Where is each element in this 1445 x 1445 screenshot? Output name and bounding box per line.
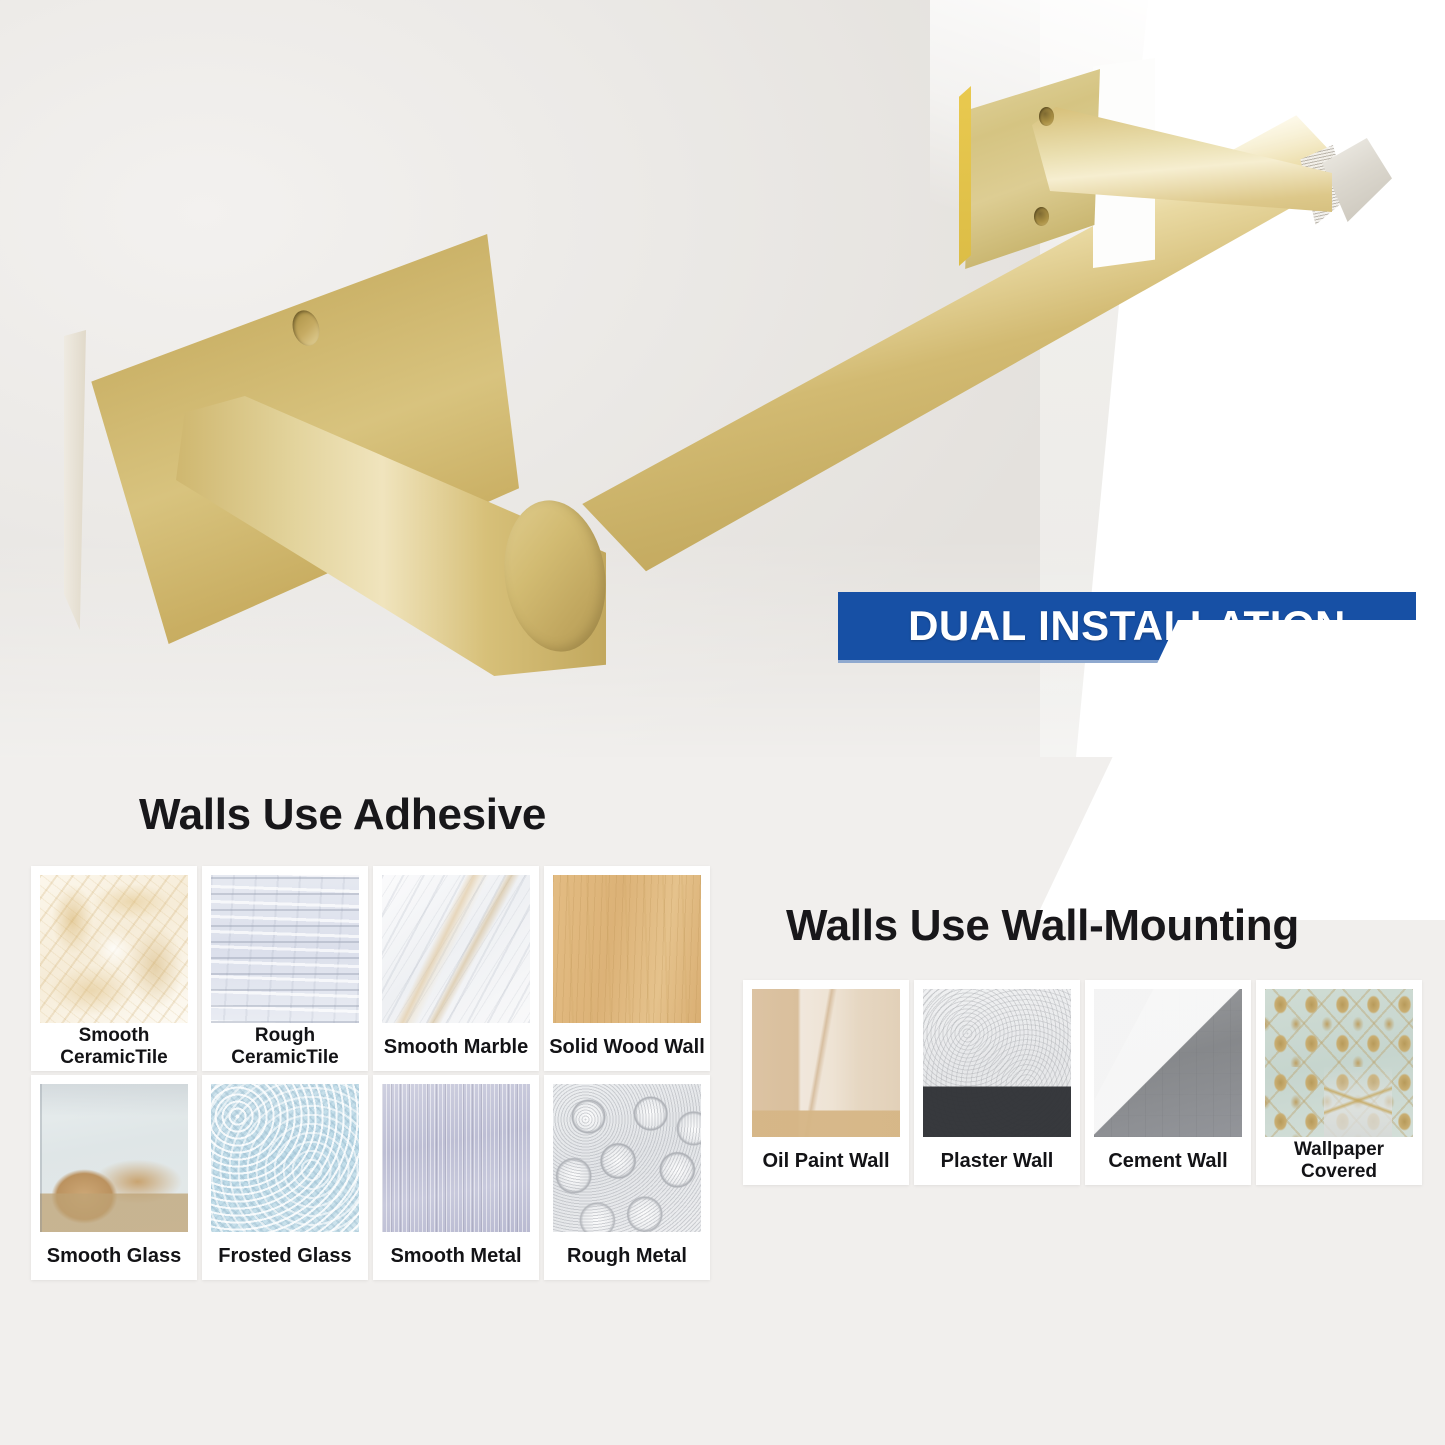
surface-thumbnail-cement-wall [1094,989,1242,1137]
wallpaper-branch-overlay [1324,1066,1392,1137]
surface-thumbnail-frosted-glass [211,1084,359,1232]
right-plate-screw-hole-bottom [1034,207,1049,226]
surface-label-smooth-marble: Smooth Marble [382,1023,530,1071]
surface-label-smooth-metal: Smooth Metal [388,1232,523,1280]
surface-label-oil-paint-wall: Oil Paint Wall [760,1137,891,1185]
surface-card-smooth-metal: Smooth Metal [373,1075,539,1280]
surface-card-rough-metal: Rough Metal [544,1075,710,1280]
surface-card-oil-paint-wall: Oil Paint Wall [743,980,909,1185]
surface-thumbnail-solid-wood-wall [553,875,701,1023]
surface-card-smooth-marble: Smooth Marble [373,866,539,1071]
surface-thumbnail-smooth-marble [382,875,530,1023]
surface-card-plaster-wall: Plaster Wall [914,980,1080,1185]
surface-thumbnail-rough-ceramic-tile [211,875,359,1023]
surface-thumbnail-smooth-ceramic-tile [40,875,188,1023]
surface-card-wallpaper-covered: WallpaperCovered [1256,980,1422,1185]
surface-thumbnail-rough-metal [553,1084,701,1232]
surface-card-smooth-glass: Smooth Glass [31,1075,197,1280]
surface-thumbnail-plaster-wall [923,989,1071,1137]
surface-card-solid-wood-wall: Solid Wood Wall [544,866,710,1071]
surface-thumbnail-oil-paint-wall [752,989,900,1137]
product-infographic: DUAL INSTALLATION Walls Use Adhesive Wal… [0,0,1445,1445]
surface-label-frosted-glass: Frosted Glass [216,1232,353,1280]
surface-card-cement-wall: Cement Wall [1085,980,1251,1185]
surface-label-wallpaper-covered: WallpaperCovered [1292,1137,1386,1185]
surface-thumbnail-smooth-metal [382,1084,530,1232]
surface-card-rough-ceramic-tile: RoughCeramicTile [202,866,368,1071]
surface-label-smooth-ceramic-tile: SmoothCeramicTile [58,1023,169,1071]
surface-card-frosted-glass: Frosted Glass [202,1075,368,1280]
surface-label-rough-metal: Rough Metal [565,1232,689,1280]
surface-thumbnail-wallpaper-covered [1265,989,1413,1137]
surface-label-cement-wall: Cement Wall [1106,1137,1229,1185]
surface-label-rough-ceramic-tile: RoughCeramicTile [229,1023,340,1071]
right-plate-edge [959,86,971,266]
surface-label-solid-wood-wall: Solid Wood Wall [547,1023,707,1071]
surface-thumbnail-smooth-glass [40,1084,188,1232]
surface-card-smooth-ceramic-tile: SmoothCeramicTile [31,866,197,1071]
surface-label-plaster-wall: Plaster Wall [939,1137,1056,1185]
mounting-section-title: Walls Use Wall-Mounting [786,901,1299,951]
surface-label-smooth-glass: Smooth Glass [45,1232,183,1280]
right-plate-screw-hole-top [1039,107,1054,126]
adhesive-section-title: Walls Use Adhesive [139,790,546,840]
